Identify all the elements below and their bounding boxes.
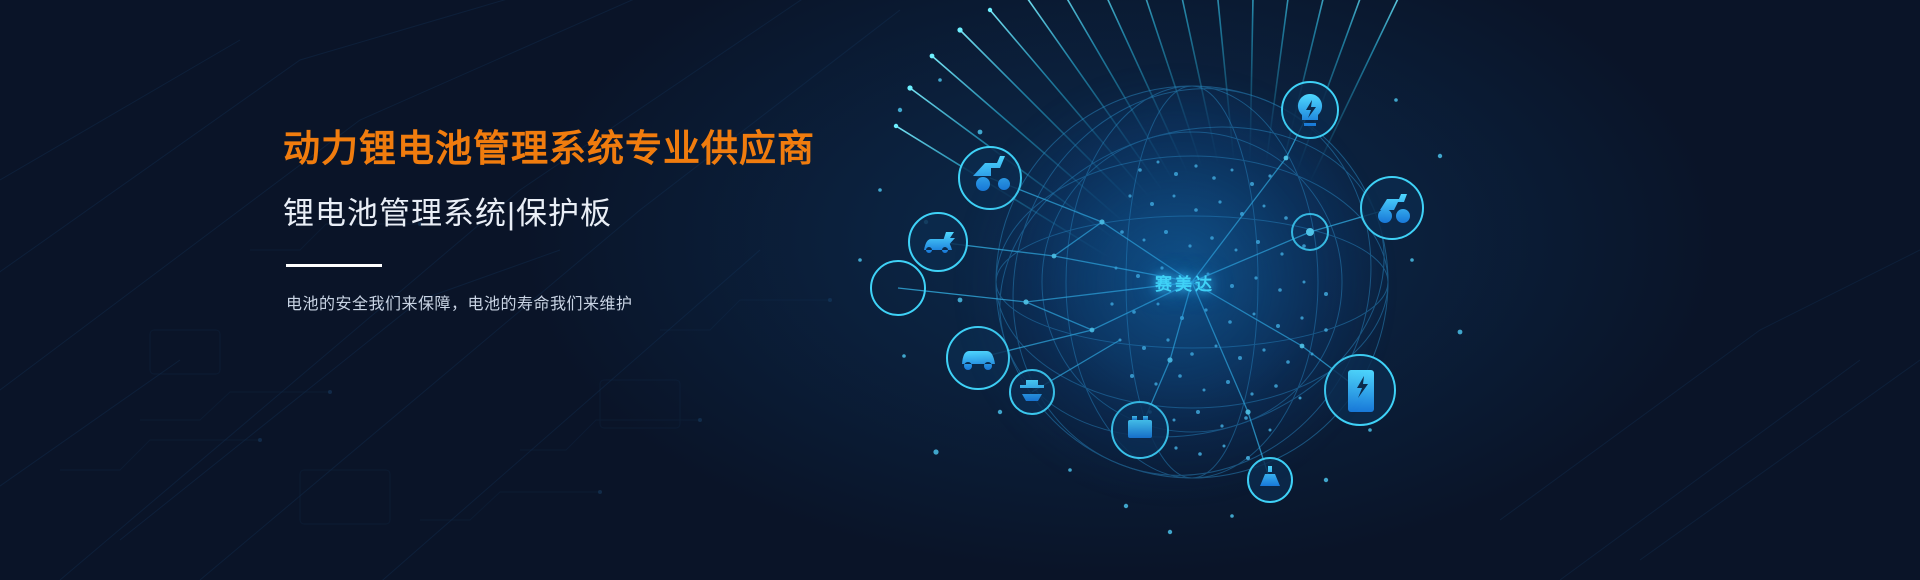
banner-copy: 动力锂电池管理系统专业供应商 锂电池管理系统|保护板 电池的安全我们来保障，电池… <box>283 128 903 317</box>
divider <box>286 264 382 267</box>
ev-charging-car-icon[interactable] <box>909 213 967 271</box>
page-title: 动力锂电池管理系统专业供应商 <box>283 128 903 169</box>
network-globe-graphic: 赛美达 <box>840 0 1500 580</box>
hero-banner: 动力锂电池管理系统专业供应商 锂电池管理系统|保护板 电池的安全我们来保障，电池… <box>0 0 1920 580</box>
banner-tagline: 电池的安全我们来保障，电池的寿命我们来维护 <box>286 293 903 317</box>
brand-center-label: 赛美达 <box>1155 270 1215 295</box>
banner-subheading: 锂电池管理系统|保护板 <box>283 196 903 232</box>
